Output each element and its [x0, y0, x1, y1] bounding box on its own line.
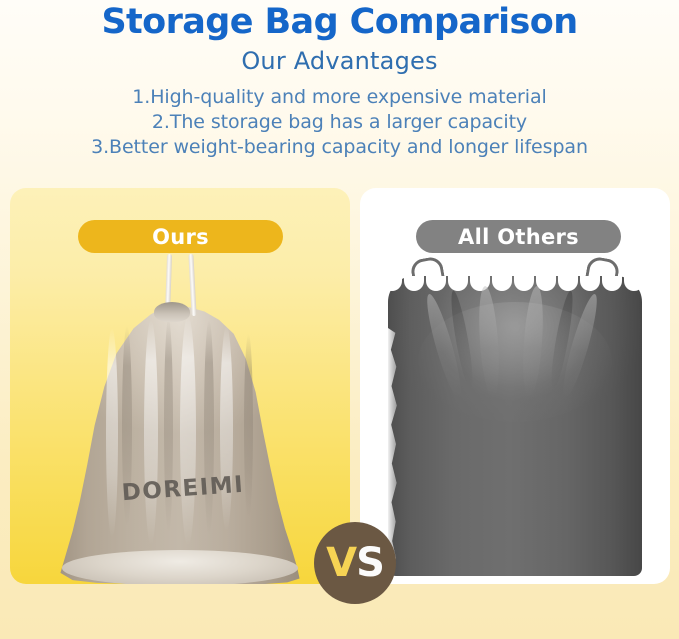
poster-header: Storage Bag Comparison Our Advantages 1.… — [0, 0, 679, 182]
bag-top-scallop-edge — [388, 276, 642, 298]
vs-letter-s: S — [356, 540, 384, 586]
advantage-item-2: 2.The storage bag has a larger capacity — [0, 110, 679, 135]
bag-body-ours — [58, 306, 302, 584]
advantage-item-1: 1.High-quality and more expensive materi… — [0, 85, 679, 110]
panel-ours: Ours DOREIMI — [10, 188, 350, 584]
bag-gather-arc — [418, 302, 612, 422]
advantages-list: 1.High-quality and more expensive materi… — [0, 76, 679, 161]
comparison-panels: Ours DOREIMI All Others — [0, 188, 679, 588]
drawstring-cord-right — [188, 254, 196, 316]
product-image-all-others — [384, 258, 646, 578]
vs-badge: V S — [314, 522, 396, 604]
panel-all-others: All Others — [360, 188, 670, 584]
page-title: Storage Bag Comparison — [0, 0, 679, 42]
comparison-poster: Storage Bag Comparison Our Advantages 1.… — [0, 0, 679, 639]
vs-letter-v: V — [326, 540, 356, 586]
badge-ours: Ours — [78, 220, 283, 253]
page-subtitle: Our Advantages — [0, 42, 679, 76]
bag-neck-gather-ours — [154, 302, 190, 322]
bag-bottom-ours — [62, 550, 298, 584]
advantage-item-3: 3.Better weight-bearing capacity and lon… — [0, 135, 679, 160]
badge-all-others: All Others — [416, 220, 621, 253]
product-image-ours: DOREIMI — [48, 254, 312, 584]
